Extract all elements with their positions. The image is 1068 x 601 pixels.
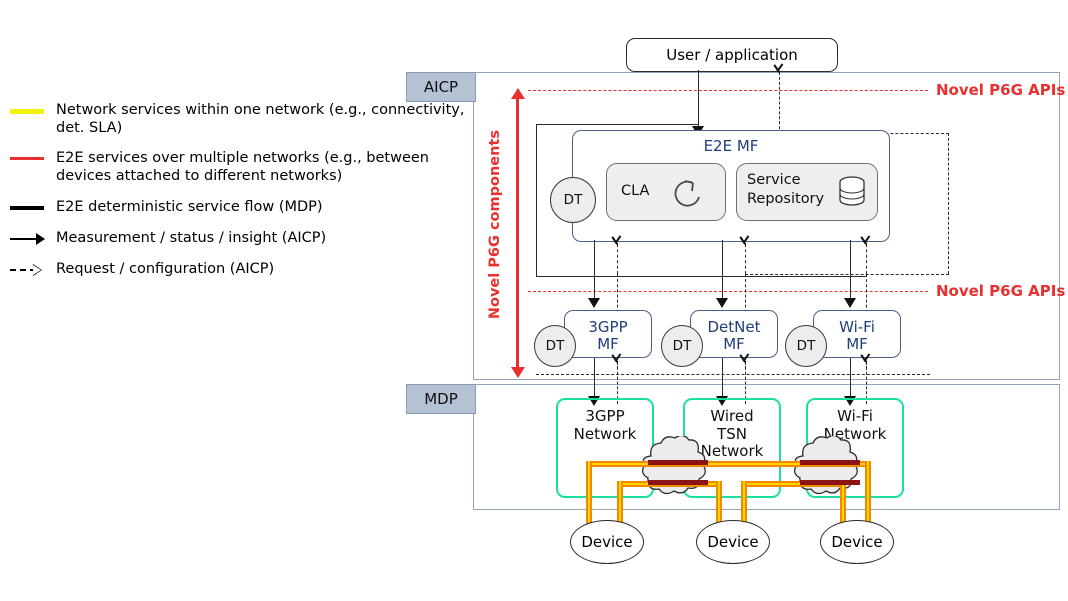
novel-p6g-apis-label-bottom: Novel P6G APIs <box>936 282 1065 300</box>
solid-arrow-swatch <box>8 228 46 248</box>
service-repository-label-line2: Repository <box>747 191 824 207</box>
aicp-bottom-dash-rail <box>536 374 930 375</box>
e2e-segment-right-outer <box>800 460 860 465</box>
flow-line-detnet-mf-to-net <box>722 358 723 400</box>
mdp-panel-label: MDP <box>406 384 476 414</box>
mdp-flow-left-rail <box>536 124 537 276</box>
net-wifi-line1: Wi-Fi <box>808 408 902 426</box>
legend: Network services within one network (e.g… <box>8 100 478 290</box>
e2e-segment-left-inner <box>648 480 708 485</box>
net-tsn-line1: Wired <box>685 408 779 426</box>
dt-mf-3gpp[interactable]: DT <box>534 325 576 367</box>
novel-p6g-apis-line-top <box>528 90 928 91</box>
mdp-flow-top-left-rail <box>536 124 698 125</box>
flow-arrow-e2e-to-3gpp <box>588 298 600 308</box>
novel-p6g-components-label: Novel P6G components <box>487 130 503 319</box>
e2e-segment-left-outer <box>648 460 708 465</box>
mf-detnet-box[interactable]: DetNet MF <box>690 310 778 358</box>
flow-arrow-e2e-to-detnet <box>716 298 728 308</box>
e2e-segment-right-inner <box>800 480 860 485</box>
mf-3gpp-line1: 3GPP <box>565 319 651 336</box>
flow-line-e2e-to-wifi <box>850 240 851 302</box>
legend-label: Measurement / status / insight (AICP) <box>56 228 326 248</box>
mf-3gpp-box[interactable]: 3GPP MF <box>564 310 652 358</box>
legend-item-network-services: Network services within one network (e.g… <box>8 100 478 137</box>
aicp-panel-label: AICP <box>406 72 476 102</box>
service-repository-box[interactable]: Service Repository <box>736 163 878 221</box>
e2e-mf-box[interactable]: E2E MF CLA Service Repository <box>572 130 890 242</box>
cla-label: CLA <box>621 183 649 199</box>
legend-item-e2e-flow: E2E deterministic service flow (MDP) <box>8 197 478 217</box>
legend-item-measurement: Measurement / status / insight (AICP) <box>8 228 478 248</box>
legend-item-request: Request / configuration (AICP) <box>8 259 478 279</box>
dt-mf-wifi[interactable]: DT <box>785 325 827 367</box>
black-line-swatch <box>8 197 46 217</box>
measure-dash-wifi-to-e2e <box>866 244 867 274</box>
service-repository-label-line1: Service <box>747 172 801 188</box>
legend-label: E2E services over multiple networks (e.g… <box>56 148 478 185</box>
flow-line-e2e-to-3gpp <box>594 240 595 302</box>
device-3[interactable]: Device <box>820 520 894 564</box>
gateway-cloud-icon-left <box>633 436 713 502</box>
dashed-arrow-swatch <box>8 259 46 279</box>
flow-arrow-e2e-to-wifi <box>844 298 856 308</box>
mdp-flow-bottom-rail <box>536 276 866 277</box>
novel-p6g-apis-line-bottom <box>528 291 928 292</box>
user-application-box[interactable]: User / application <box>626 38 838 72</box>
cla-box[interactable]: CLA <box>606 163 726 221</box>
flow-line-3gpp-mf-to-net <box>594 358 595 400</box>
request-dash-horz-bottom <box>745 274 949 275</box>
mf-detnet-line2: MF <box>691 336 777 353</box>
mf-detnet-line1: DetNet <box>691 319 777 336</box>
net-3gpp-line1: 3GPP <box>558 408 652 426</box>
device-1[interactable]: Device <box>570 520 644 564</box>
database-icon <box>837 175 869 211</box>
measure-dash-3gpp-to-e2e <box>617 244 618 274</box>
mf-wifi-line1: Wi-Fi <box>814 319 900 336</box>
device-2[interactable]: Device <box>696 520 770 564</box>
flow-user-to-e2e-line <box>698 70 699 132</box>
request-to-user-dash-vert <box>779 72 780 134</box>
dt-mf-detnet[interactable]: DT <box>661 325 703 367</box>
yellow-line-swatch <box>8 100 46 120</box>
legend-label: Network services within one network (e.g… <box>56 100 478 137</box>
gateway-cloud-icon-right <box>785 436 865 502</box>
closed-loop-refresh-icon <box>669 175 709 211</box>
e2e-mf-title: E2E MF <box>573 131 889 155</box>
novel-p6g-components-arrow <box>510 88 524 378</box>
mf-3gpp-line2: MF <box>565 336 651 353</box>
measure-dash-detnet-to-e2e <box>745 244 746 274</box>
request-right-rail-dash <box>948 133 949 274</box>
flow-line-wifi-mf-to-net <box>850 358 851 400</box>
legend-label: Request / configuration (AICP) <box>56 259 274 279</box>
red-line-swatch <box>8 148 46 168</box>
legend-label: E2E deterministic service flow (MDP) <box>56 197 323 217</box>
novel-p6g-apis-label-top: Novel P6G APIs <box>936 81 1065 99</box>
flow-line-e2e-to-detnet <box>722 240 723 302</box>
dt-e2e-mf[interactable]: DT <box>550 177 596 223</box>
legend-item-e2e-services: E2E services over multiple networks (e.g… <box>8 148 478 185</box>
